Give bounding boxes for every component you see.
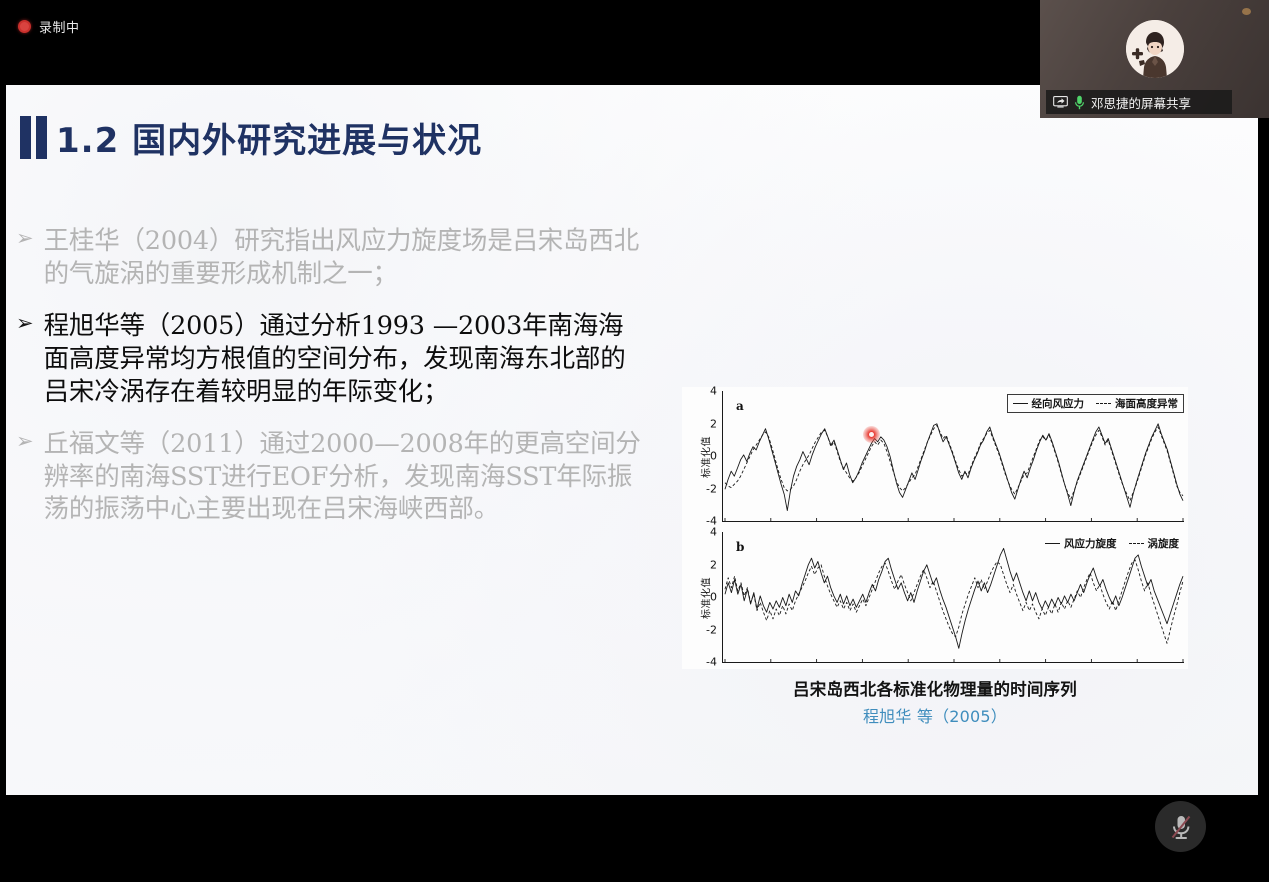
legend-label: 风应力旋度 xyxy=(1064,536,1117,551)
list-item: ➢ 丘福文等（2011）通过2000—2008年的更高空间分辨率的南海SST进行… xyxy=(16,428,641,526)
legend-entry: 经向风应力 xyxy=(1013,396,1085,411)
y-tick: 2 xyxy=(710,559,717,572)
chart-panel-a: 标准化值 4 2 0 -2 -4 a 经 xyxy=(682,387,1188,526)
y-tick: 2 xyxy=(710,418,717,431)
legend-entry: 涡旋度 xyxy=(1129,536,1180,551)
legend-entry: 风应力旋度 xyxy=(1045,536,1117,551)
legend-swatch-dashed xyxy=(1096,403,1111,404)
y-tick: -2 xyxy=(706,624,717,637)
y-tick: -4 xyxy=(706,656,717,669)
recording-indicator: 录制中 xyxy=(18,17,80,36)
time-series-chart: 标准化值 4 2 0 -2 -4 a 经 xyxy=(682,387,1188,669)
figure-caption-citation: 程旭华 等（2005） xyxy=(682,703,1188,727)
list-item-text: 丘福文等（2011）通过2000—2008年的更高空间分辨率的南海SST进行EO… xyxy=(44,428,641,526)
microphone-muted-button[interactable] xyxy=(1155,801,1206,852)
screen-share-label-bar: 邓思捷的屏幕共享 xyxy=(1046,90,1232,114)
y-tick: 4 xyxy=(710,385,717,398)
microphone-muted-icon xyxy=(1168,813,1194,841)
list-item-text: 程旭华等（2005）通过分析1993 —2003年南海海面高度异常均方根值的空间… xyxy=(44,310,641,408)
laser-pointer xyxy=(863,426,880,443)
page-title: 1.2 国内外研究进展与状况 xyxy=(56,113,482,162)
list-item: ➢ 程旭华等（2005）通过分析1993 —2003年南海海面高度异常均方根值的… xyxy=(16,310,641,408)
chart-panel-b: 标准化值 4 2 0 -2 -4 b 风 xyxy=(682,528,1188,667)
legend-label: 经向风应力 xyxy=(1032,396,1085,411)
legend-swatch-dashed xyxy=(1129,543,1144,544)
video-highlight xyxy=(1242,8,1251,15)
legend-label: 涡旋度 xyxy=(1148,536,1180,551)
figure-caption: 吕宋岛西北各标准化物理量的时间序列 程旭华 等（2005） xyxy=(682,676,1188,727)
figure: 标准化值 4 2 0 -2 -4 a 经 xyxy=(682,387,1202,727)
meeting-screen-share-view: 录制中 xyxy=(0,0,1269,882)
bullet-list: ➢ 王桂华（2004）研究指出风应力旋度场是吕宋岛西北的气旋涡的重要形成机制之一… xyxy=(16,225,641,546)
bullet-arrow-icon: ➢ xyxy=(16,428,34,455)
presenter-video-thumbnail[interactable]: 邓思捷的屏幕共享 xyxy=(1040,0,1269,118)
legend-entry: 海面高度异常 xyxy=(1096,396,1178,411)
legend-swatch-solid xyxy=(1045,543,1060,544)
recording-label: 录制中 xyxy=(39,17,80,36)
screen-share-icon xyxy=(1053,96,1068,108)
avatar xyxy=(1126,20,1184,78)
list-item: ➢ 王桂华（2004）研究指出风应力旋度场是吕宋岛西北的气旋涡的重要形成机制之一… xyxy=(16,225,641,290)
panel-letter-b: b xyxy=(736,540,744,554)
slide-title-row: 1.2 国内外研究进展与状况 xyxy=(20,113,482,162)
chart-legend-a: 经向风应力 海面高度异常 xyxy=(1007,394,1185,413)
bullet-arrow-icon: ➢ xyxy=(16,225,34,252)
y-axis-ticks: 4 2 0 -2 -4 xyxy=(703,387,720,526)
panel-letter-a: a xyxy=(736,399,744,413)
screen-share-owner-label: 邓思捷的屏幕共享 xyxy=(1091,93,1191,112)
chart-legend-b: 风应力旋度 涡旋度 xyxy=(1040,535,1184,552)
title-accent-bars-icon xyxy=(20,116,47,159)
legend-label: 海面高度异常 xyxy=(1115,396,1178,411)
microphone-icon xyxy=(1074,95,1085,110)
list-item-text: 王桂华（2004）研究指出风应力旋度场是吕宋岛西北的气旋涡的重要形成机制之一； xyxy=(44,225,641,290)
figure-caption-title: 吕宋岛西北各标准化物理量的时间序列 xyxy=(682,676,1188,700)
bullet-arrow-icon: ➢ xyxy=(16,310,34,337)
legend-swatch-solid xyxy=(1013,403,1028,404)
y-tick: 0 xyxy=(710,591,717,604)
shared-slide: 1.2 国内外研究进展与状况 ➢ 王桂华（2004）研究指出风应力旋度场是吕宋岛… xyxy=(6,85,1258,795)
y-tick: -2 xyxy=(706,483,717,496)
y-tick: 0 xyxy=(710,450,717,463)
record-dot-icon xyxy=(18,20,31,33)
y-tick: 4 xyxy=(710,526,717,539)
y-axis-ticks: 4 2 0 -2 -4 xyxy=(703,528,720,667)
